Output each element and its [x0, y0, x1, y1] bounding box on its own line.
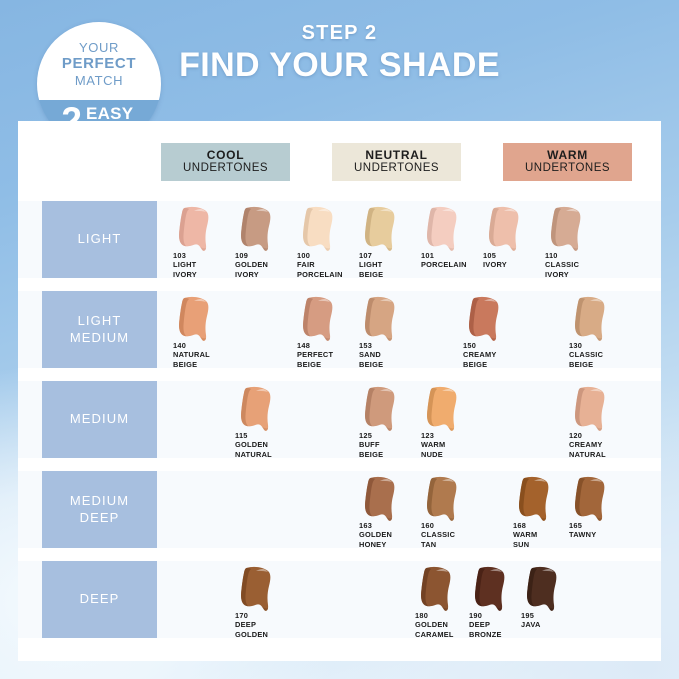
foundation-smear-icon	[568, 385, 614, 433]
shade-label: 115GOLDENNATURAL	[235, 431, 272, 459]
undertone-name: NEUTRAL	[365, 149, 427, 162]
shade-swatch-110[interactable]: 110CLASSICIVORY	[542, 201, 600, 278]
shade-swatch-100[interactable]: 100FAIRPORCELAIN	[294, 201, 352, 278]
foundation-smear-icon	[358, 295, 404, 343]
undertone-name: COOL	[207, 149, 244, 162]
shade-swatch-190[interactable]: 190DEEPBRONZE	[466, 561, 524, 638]
page-title: FIND YOUR SHADE	[0, 48, 679, 84]
undertone-sub: UNDERTONES	[525, 162, 610, 175]
shade-label: 160CLASSICTAN	[421, 521, 455, 549]
shade-chart-card: COOLUNDERTONESNEUTRALUNDERTONESWARMUNDER…	[18, 121, 661, 661]
shade-label: 110CLASSICIVORY	[545, 251, 579, 279]
foundation-smear-icon	[296, 205, 342, 253]
shade-swatch-195[interactable]: 195JAVA	[518, 561, 576, 638]
shade-label: 170DEEPGOLDEN	[235, 611, 268, 639]
shade-label: 153SANDBEIGE	[359, 341, 383, 369]
foundation-smear-icon	[420, 475, 466, 523]
foundation-smear-icon	[512, 475, 558, 523]
step-label: STEP 2	[0, 22, 679, 45]
undertone-header-cool: COOLUNDERTONES	[161, 143, 290, 181]
row-label-text: MEDIUMDEEP	[70, 493, 129, 526]
row-label-light-medium: LIGHTMEDIUM	[42, 291, 157, 368]
shade-swatch-150[interactable]: 150CREAMYBEIGE	[460, 291, 518, 368]
shade-label: 165TAWNY	[569, 521, 596, 540]
foundation-smear-icon	[482, 205, 528, 253]
shade-label: 103LIGHTIVORY	[173, 251, 197, 279]
row-label-text: MEDIUM	[70, 411, 129, 427]
shade-swatch-168[interactable]: 168WARMSUN	[510, 471, 568, 548]
foundation-smear-icon	[544, 205, 590, 253]
shade-swatch-130[interactable]: 130CLASSICBEIGE	[566, 291, 624, 368]
foundation-smear-icon	[172, 205, 218, 253]
shade-label: 168WARMSUN	[513, 521, 537, 549]
shade-label: 105IVORY	[483, 251, 507, 270]
undertone-sub: UNDERTONES	[354, 162, 439, 175]
undertone-sub: UNDERTONES	[183, 162, 268, 175]
foundation-smear-icon	[568, 475, 614, 523]
foundation-smear-icon	[420, 385, 466, 433]
shade-label: 107LIGHTBEIGE	[359, 251, 383, 279]
shade-label: 148PERFECTBEIGE	[297, 341, 333, 369]
badge-easy-label: EASY	[86, 105, 137, 122]
foundation-smear-icon	[468, 565, 514, 613]
shade-swatch-165[interactable]: 165TAWNY	[566, 471, 624, 548]
shade-swatch-115[interactable]: 115GOLDENNATURAL	[232, 381, 290, 458]
shade-label: 125BUFFBEIGE	[359, 431, 383, 459]
row-label-text: LIGHTMEDIUM	[70, 313, 129, 346]
row-label-medium: MEDIUM	[42, 381, 157, 458]
shade-swatch-109[interactable]: 109GOLDENIVORY	[232, 201, 290, 278]
row-label-medium-deep: MEDIUMDEEP	[42, 471, 157, 548]
shade-label: 123WARMNUDE	[421, 431, 445, 459]
shade-label: 150CREAMYBEIGE	[463, 341, 497, 369]
shade-label: 180GOLDENCARAMEL	[415, 611, 454, 639]
shade-swatch-140[interactable]: 140NATURALBEIGE	[170, 291, 228, 368]
shade-row-medium: MEDIUM115GOLDENNATURAL125BUFFBEIGE123WAR…	[18, 381, 661, 458]
foundation-smear-icon	[358, 385, 404, 433]
poster-canvas: YOUR PERFECT MATCH 2 EASY STEPS STEP 2 F…	[0, 0, 679, 679]
shade-swatch-160[interactable]: 160CLASSICTAN	[418, 471, 476, 548]
shade-swatch-163[interactable]: 163GOLDENHONEY	[356, 471, 414, 548]
shade-label: 140NATURALBEIGE	[173, 341, 210, 369]
undertone-header-neutral: NEUTRALUNDERTONES	[332, 143, 461, 181]
row-label-text: LIGHT	[78, 231, 122, 247]
shade-swatch-107[interactable]: 107LIGHTBEIGE	[356, 201, 414, 278]
shade-label: 109GOLDENIVORY	[235, 251, 268, 279]
undertone-header-row: COOLUNDERTONESNEUTRALUNDERTONESWARMUNDER…	[18, 143, 661, 181]
shade-label: 163GOLDENHONEY	[359, 521, 392, 549]
shade-swatch-180[interactable]: 180GOLDENCARAMEL	[412, 561, 470, 638]
shade-swatch-123[interactable]: 123WARMNUDE	[418, 381, 476, 458]
undertone-name: WARM	[547, 149, 588, 162]
row-label-text: DEEP	[80, 591, 120, 607]
shade-swatch-125[interactable]: 125BUFFBEIGE	[356, 381, 414, 458]
poster-header: STEP 2 FIND YOUR SHADE	[0, 22, 679, 84]
shade-swatch-101[interactable]: 101PORCELAIN	[418, 201, 476, 278]
foundation-smear-icon	[420, 205, 466, 253]
shade-row-light-medium: LIGHTMEDIUM140NATURALBEIGE148PERFECTBEIG…	[18, 291, 661, 368]
foundation-smear-icon	[234, 385, 280, 433]
shade-label: 130CLASSICBEIGE	[569, 341, 603, 369]
shade-label: 190DEEPBRONZE	[469, 611, 502, 639]
shade-swatch-148[interactable]: 148PERFECTBEIGE	[294, 291, 352, 368]
foundation-smear-icon	[234, 205, 280, 253]
row-label-deep: DEEP	[42, 561, 157, 638]
foundation-smear-icon	[172, 295, 218, 343]
row-label-light: LIGHT	[42, 201, 157, 278]
shade-label: 195JAVA	[521, 611, 541, 630]
shade-swatch-120[interactable]: 120CREAMYNATURAL	[566, 381, 624, 458]
shade-label: 120CREAMYNATURAL	[569, 431, 606, 459]
undertone-header-warm: WARMUNDERTONES	[503, 143, 632, 181]
shade-label: 101PORCELAIN	[421, 251, 467, 270]
foundation-smear-icon	[568, 295, 614, 343]
shade-label: 100FAIRPORCELAIN	[297, 251, 343, 279]
foundation-smear-icon	[296, 295, 342, 343]
foundation-smear-icon	[462, 295, 508, 343]
shade-swatch-103[interactable]: 103LIGHTIVORY	[170, 201, 228, 278]
shade-row-medium-deep: MEDIUMDEEP163GOLDENHONEY160CLASSICTAN168…	[18, 471, 661, 548]
shade-swatch-153[interactable]: 153SANDBEIGE	[356, 291, 414, 368]
shade-swatch-105[interactable]: 105IVORY	[480, 201, 538, 278]
shade-row-light: LIGHT103LIGHTIVORY109GOLDENIVORY100FAIRP…	[18, 201, 661, 278]
shade-swatch-170[interactable]: 170DEEPGOLDEN	[232, 561, 290, 638]
shade-row-deep: DEEP170DEEPGOLDEN180GOLDENCARAMEL190DEEP…	[18, 561, 661, 638]
foundation-smear-icon	[414, 565, 460, 613]
foundation-smear-icon	[520, 565, 566, 613]
foundation-smear-icon	[234, 565, 280, 613]
foundation-smear-icon	[358, 475, 404, 523]
foundation-smear-icon	[358, 205, 404, 253]
